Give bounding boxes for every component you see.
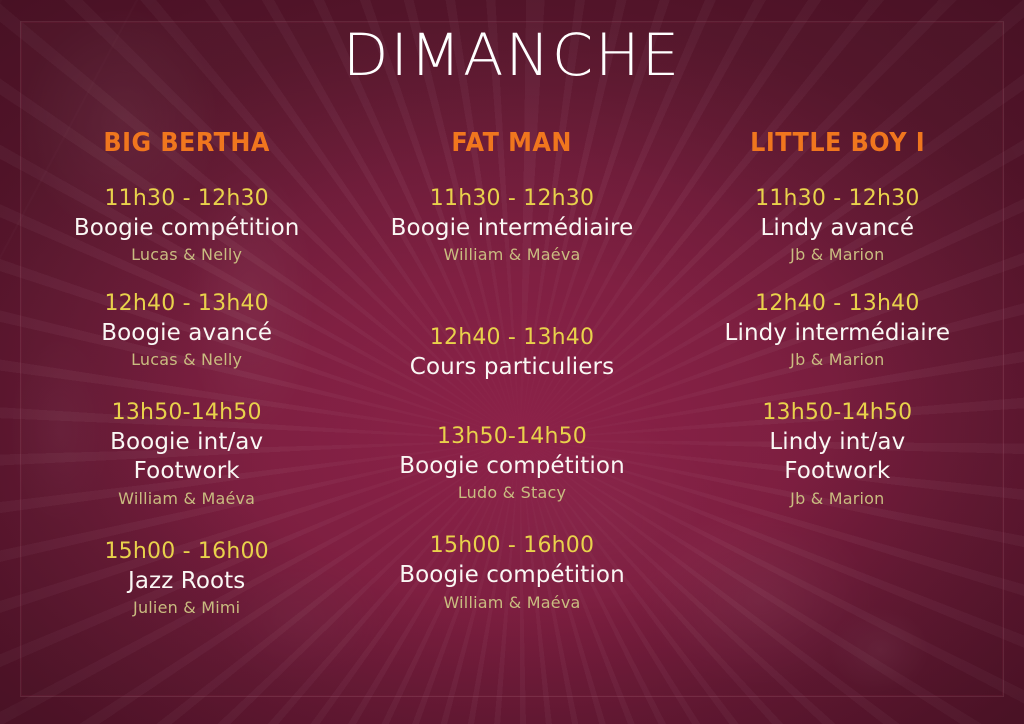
slot-time: 13h50-14h50 xyxy=(681,398,994,428)
schedule-slot[interactable]: 11h30 - 12h30Boogie intermédiaireWilliam… xyxy=(355,184,668,267)
slot-class-name: Lindy intermédiaire xyxy=(681,319,994,348)
schedule-columns: BIG BERTHA11h30 - 12h30Boogie compétitio… xyxy=(24,130,1000,646)
slot-teachers: Lucas & Nelly xyxy=(30,348,343,372)
slot-teachers: Jb & Marion xyxy=(681,243,994,267)
slot-time: 12h40 - 13h40 xyxy=(355,323,668,353)
slot-class-name: Boogie compétition xyxy=(30,214,343,243)
slot-teachers: Lucas & Nelly xyxy=(30,243,343,267)
schedule-slot[interactable]: 13h50-14h50Boogie int/avFootworkWilliam … xyxy=(30,398,343,511)
slot-time: 11h30 - 12h30 xyxy=(681,184,994,214)
poster-content: DIMANCHE BIG BERTHA11h30 - 12h30Boogie c… xyxy=(0,0,1024,724)
slot-class-name: Cours particuliers xyxy=(355,353,668,382)
room-title: LITTLE BOY I xyxy=(693,130,981,156)
slot-time: 12h40 - 13h40 xyxy=(30,289,343,319)
page-title: DIMANCHE xyxy=(0,26,1024,84)
slot-class-name: Boogie compétition xyxy=(355,452,668,481)
slot-time: 15h00 - 16h00 xyxy=(30,537,343,567)
slot-teachers: Jb & Marion xyxy=(681,487,994,511)
schedule-slot[interactable]: 12h40 - 13h40Boogie avancéLucas & Nelly xyxy=(30,289,343,372)
schedule-slot[interactable]: 12h40 - 13h40Lindy intermédiaireJb & Mar… xyxy=(681,289,994,372)
slot-class-name: Boogie avancé xyxy=(30,319,343,348)
slot-teachers: William & Maéva xyxy=(355,243,668,267)
room-column: BIG BERTHA11h30 - 12h30Boogie compétitio… xyxy=(24,130,349,646)
schedule-slot[interactable]: 11h30 - 12h30Boogie compétitionLucas & N… xyxy=(30,184,343,267)
slot-class-name: Boogie intermédiaire xyxy=(355,214,668,243)
schedule-slot[interactable]: 13h50-14h50Lindy int/avFootworkJb & Mari… xyxy=(681,398,994,511)
room-column: LITTLE BOY I11h30 - 12h30Lindy avancéJb … xyxy=(675,130,1000,537)
slot-teachers: Julien & Mimi xyxy=(30,596,343,620)
slot-time: 15h00 - 16h00 xyxy=(355,531,668,561)
slot-class-name-second-line: Footwork xyxy=(681,457,994,486)
slot-class-name: Boogie int/av xyxy=(30,428,343,457)
slot-time: 11h30 - 12h30 xyxy=(355,184,668,214)
schedule-slot[interactable]: 11h30 - 12h30Lindy avancéJb & Marion xyxy=(681,184,994,267)
slot-time: 13h50-14h50 xyxy=(355,422,668,452)
slot-time: 13h50-14h50 xyxy=(30,398,343,428)
room-title: FAT MAN xyxy=(368,130,656,156)
schedule-slot[interactable]: 12h40 - 13h40Cours particuliers xyxy=(355,323,668,382)
slot-class-name: Lindy avancé xyxy=(681,214,994,243)
slot-teachers: William & Maéva xyxy=(355,591,668,615)
schedule-slot[interactable]: 15h00 - 16h00Jazz RootsJulien & Mimi xyxy=(30,537,343,620)
slot-class-name-second-line: Footwork xyxy=(30,457,343,486)
schedule-slot[interactable]: 15h00 - 16h00Boogie compétitionWilliam &… xyxy=(355,531,668,614)
schedule-poster: DIMANCHE BIG BERTHA11h30 - 12h30Boogie c… xyxy=(0,0,1024,724)
slot-class-name: Jazz Roots xyxy=(30,567,343,596)
slot-teachers: Ludo & Stacy xyxy=(355,481,668,505)
schedule-slot[interactable]: 13h50-14h50Boogie compétitionLudo & Stac… xyxy=(355,422,668,505)
slot-time: 11h30 - 12h30 xyxy=(30,184,343,214)
slot-time: 12h40 - 13h40 xyxy=(681,289,994,319)
slot-class-name: Lindy int/av xyxy=(681,428,994,457)
slot-teachers: Jb & Marion xyxy=(681,348,994,372)
room-column: FAT MAN11h30 - 12h30Boogie intermédiaire… xyxy=(349,130,674,641)
room-title: BIG BERTHA xyxy=(43,130,331,156)
slot-class-name: Boogie compétition xyxy=(355,561,668,590)
slot-teachers: William & Maéva xyxy=(30,487,343,511)
